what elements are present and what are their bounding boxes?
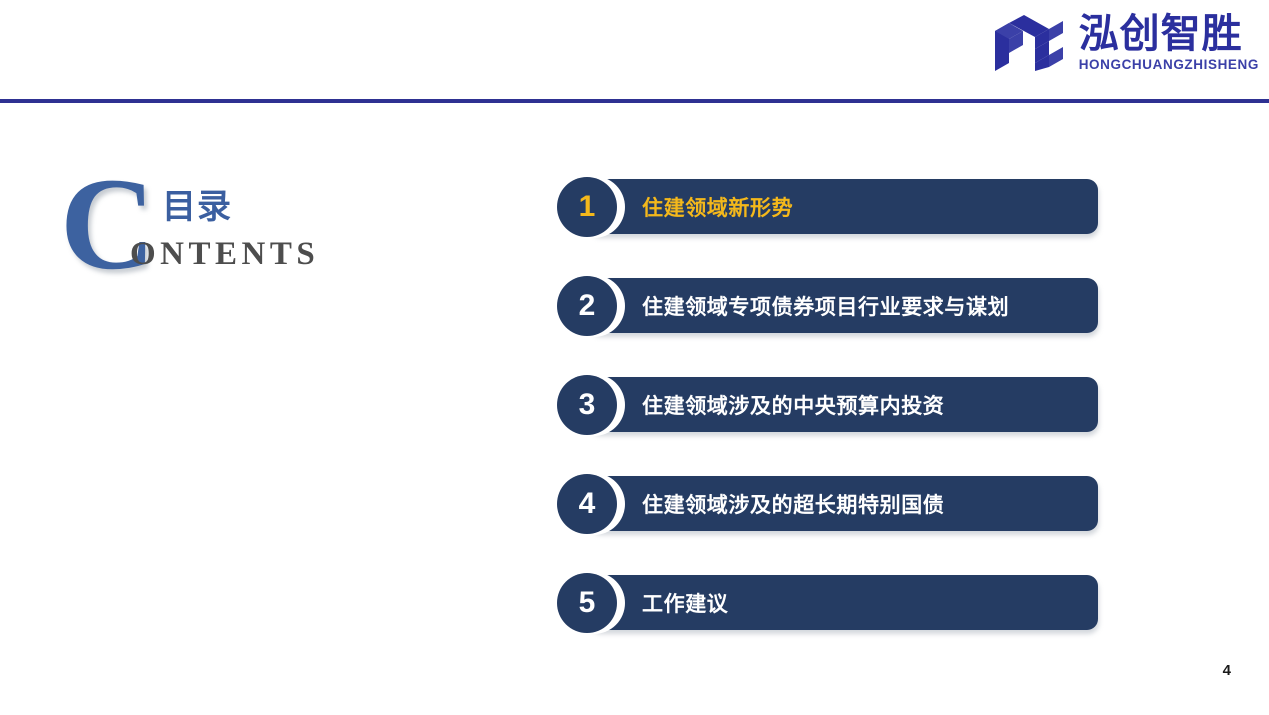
hc-cube-logo-icon [993, 14, 1069, 72]
contents-item-1[interactable]: 1 住建领域新形势 [564, 179, 1104, 234]
contents-list: 1 住建领域新形势 2 住建领域专项债券项目行业要求与谋划 3 住建领域涉及的中… [564, 179, 1104, 630]
contents-item-3[interactable]: 3 住建领域涉及的中央预算内投资 [564, 377, 1104, 432]
contents-item-2[interactable]: 2 住建领域专项债券项目行业要求与谋划 [564, 278, 1104, 333]
slide-root: 泓创智胜 HONGCHUANGZHISHENG C 目录 ONTENTS 1 住… [0, 0, 1269, 715]
contents-item-5-number: 5 [579, 588, 596, 618]
contents-title-en: ONTENTS [130, 234, 319, 274]
contents-item-2-badge: 2 [557, 276, 617, 336]
contents-item-1-number: 1 [579, 192, 596, 222]
contents-item-5-badge: 5 [557, 573, 617, 633]
contents-item-4-label: 住建领域涉及的超长期特别国债 [642, 476, 944, 531]
page-title: C 目录 ONTENTS [60, 172, 390, 284]
contents-item-1-label: 住建领域新形势 [642, 179, 793, 234]
contents-item-2-label: 住建领域专项债券项目行业要求与谋划 [642, 278, 1009, 333]
contents-title-cn: 目录 [162, 188, 232, 226]
contents-item-3-badge: 3 [557, 375, 617, 435]
logo-wordmark: 泓创智胜 HONGCHUANGZHISHENG [1079, 12, 1259, 73]
contents-item-5-label: 工作建议 [642, 575, 728, 630]
contents-item-3-label: 住建领域涉及的中央预算内投资 [642, 377, 944, 432]
contents-item-4-badge: 4 [557, 474, 617, 534]
contents-item-3-number: 3 [579, 390, 596, 420]
logo-company-name-en: HONGCHUANGZHISHENG [1079, 57, 1259, 73]
contents-item-1-badge: 1 [557, 177, 617, 237]
company-logo: 泓创智胜 HONGCHUANGZHISHENG [993, 12, 1259, 73]
page-number: 4 [1223, 662, 1231, 679]
logo-company-name-cn: 泓创智胜 [1079, 12, 1243, 56]
contents-item-5[interactable]: 5 工作建议 [564, 575, 1104, 630]
contents-item-4[interactable]: 4 住建领域涉及的超长期特别国债 [564, 476, 1104, 531]
header-divider [0, 99, 1269, 103]
contents-item-2-number: 2 [579, 291, 596, 321]
contents-item-4-number: 4 [579, 489, 596, 519]
